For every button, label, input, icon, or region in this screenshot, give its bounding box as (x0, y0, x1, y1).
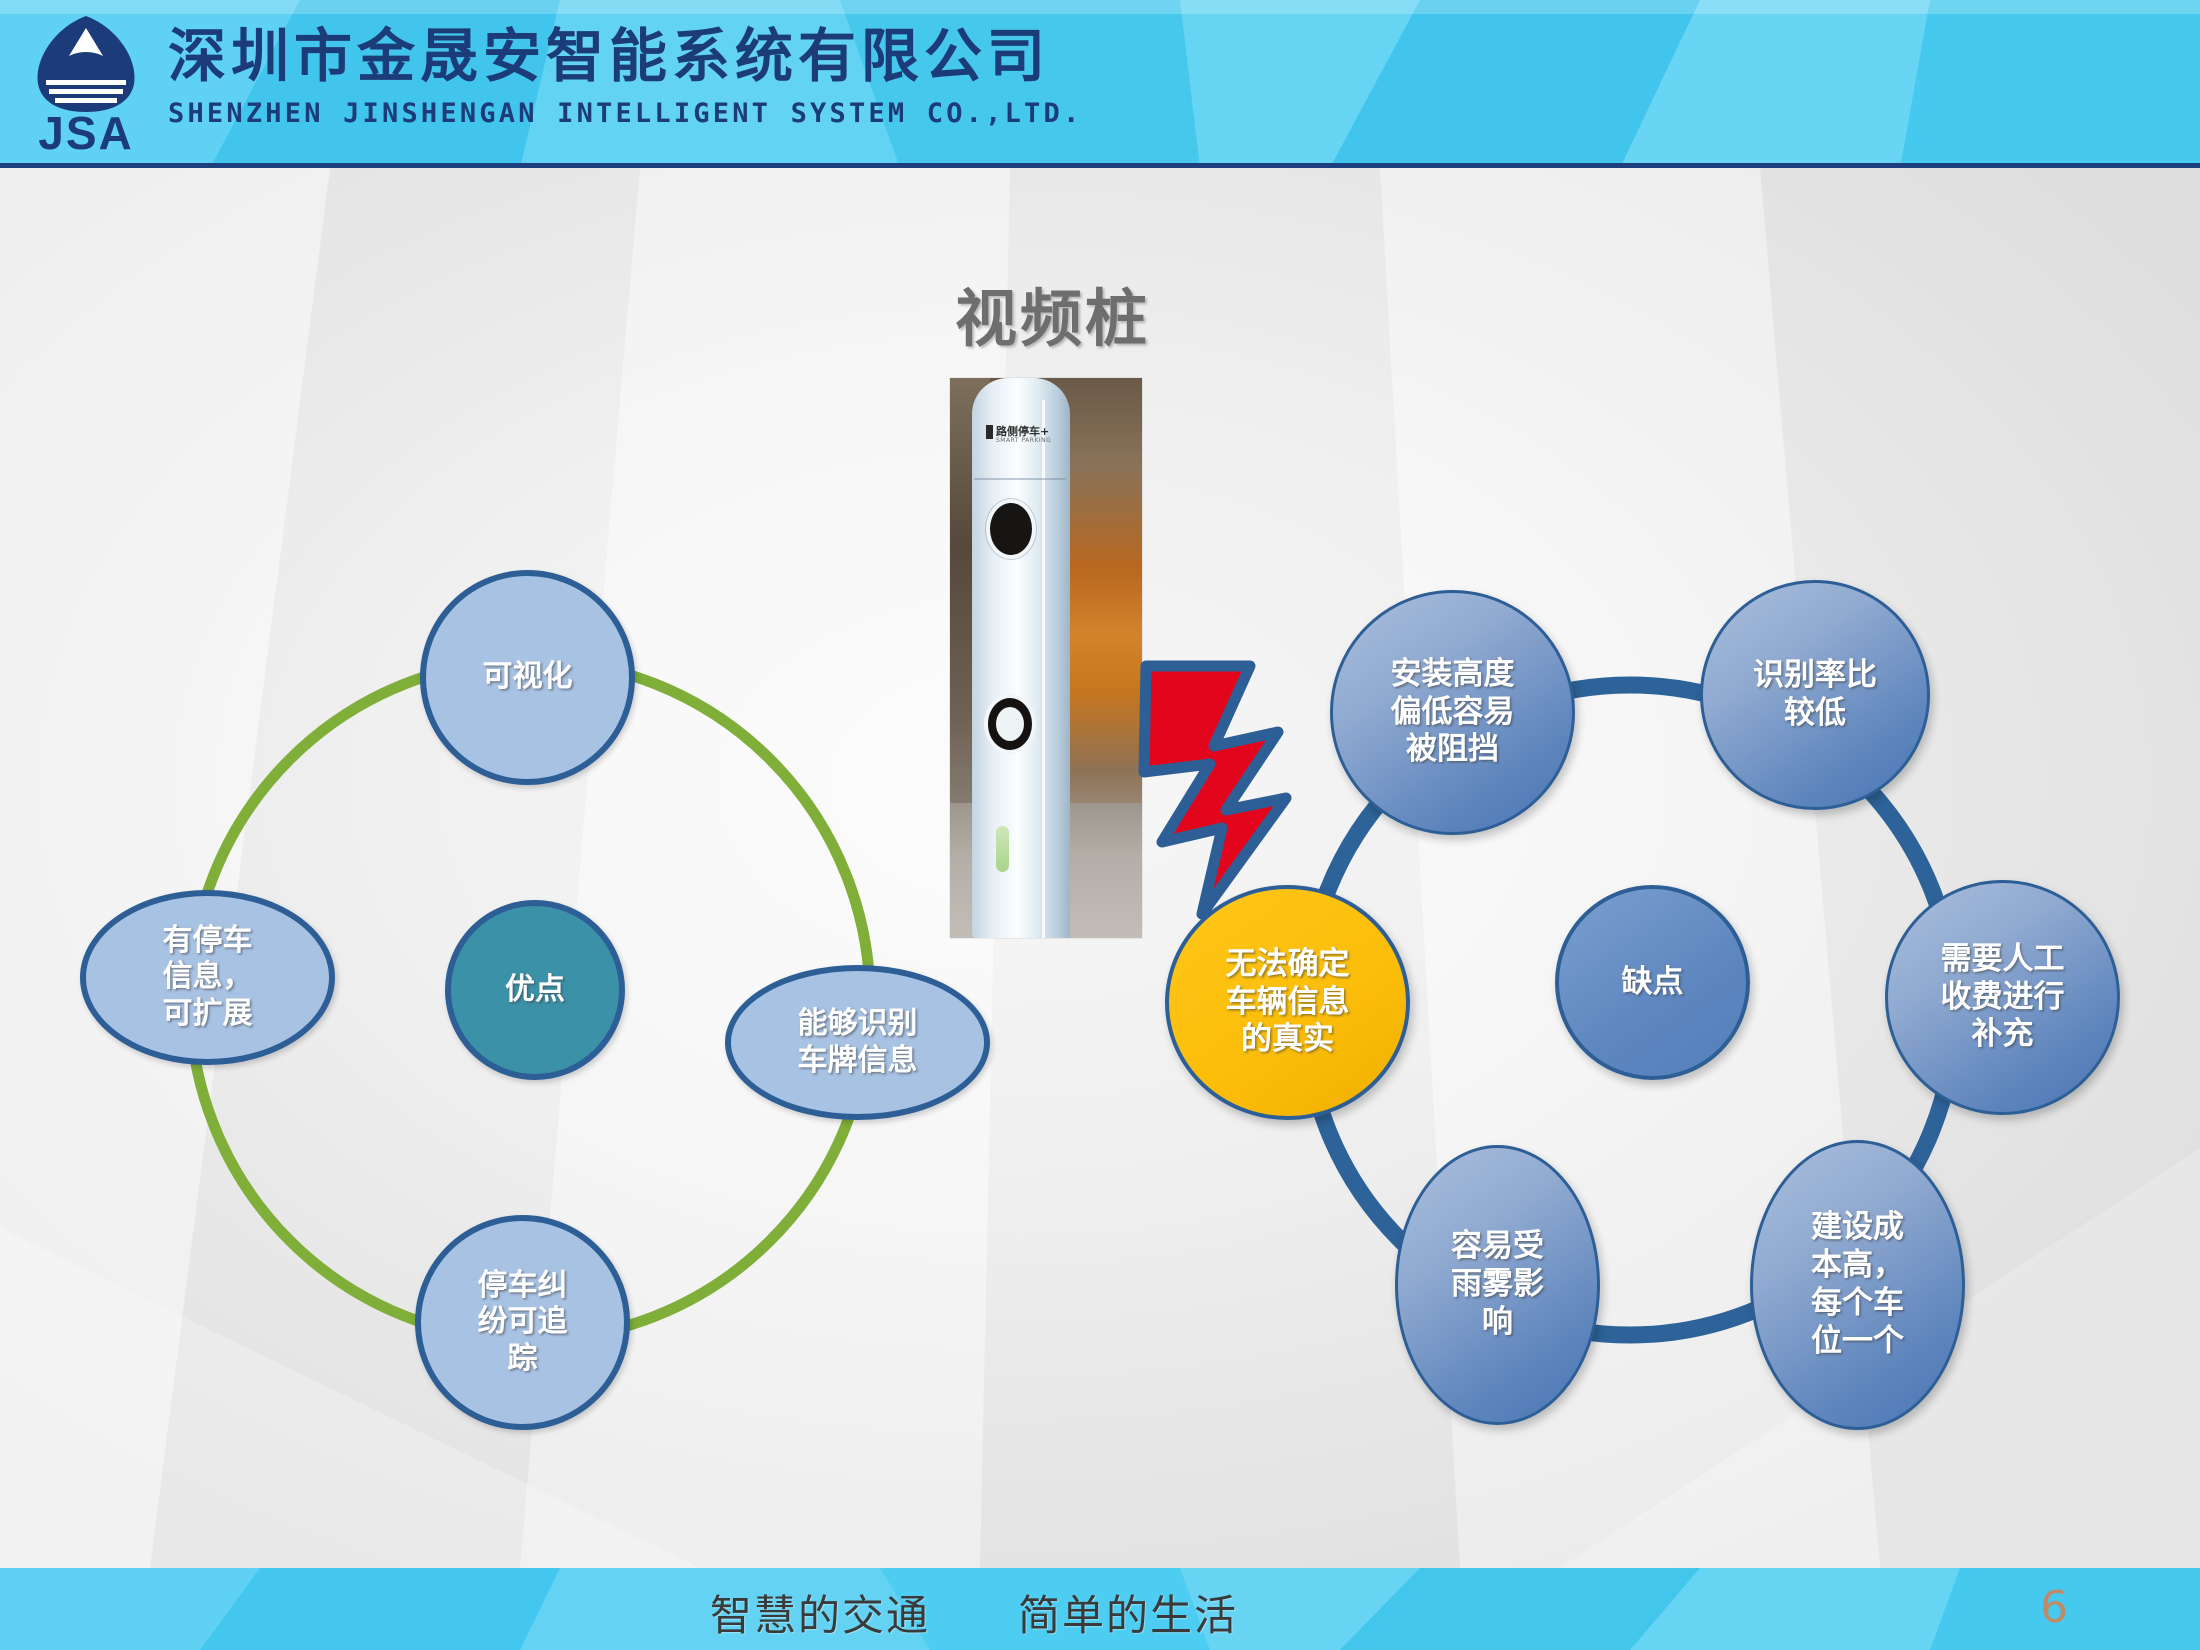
disadvantage-node-rain-fog-affected[interactable]: 容易受 雨雾影 响 (1395, 1145, 1600, 1425)
disadvantage-label-rain-fog-affected: 容易受 雨雾影 响 (1451, 1228, 1544, 1341)
slide-canvas: JSA 深圳市金晟安智能系统有限公司 SHENZHEN JINSHENGAN I… (0, 0, 2200, 1650)
company-name-cn: 深圳市金晟安智能系统有限公司 (168, 18, 1082, 94)
page-header: JSA 深圳市金晟安智能系统有限公司 SHENZHEN JINSHENGAN I… (0, 0, 2200, 168)
disadvantages-core-node[interactable]: 缺点 (1555, 885, 1750, 1080)
advantage-label-visualization: 可视化 (483, 659, 573, 696)
disadvantage-label-low-install-height: 安装高度 偏低容易 被阻挡 (1391, 656, 1515, 769)
disadvantage-node-manual-fee-supplement[interactable]: 需要人工 收费进行 补充 (1885, 880, 2120, 1115)
advantages-core-node[interactable]: 优点 (445, 900, 625, 1080)
header-underline (0, 163, 2200, 168)
advantage-node-dispute-traceable[interactable]: 停车纠 纷可追 踪 (415, 1215, 630, 1430)
disadvantage-node-high-build-cost[interactable]: 建设成 本高， 每个车 位一个 (1750, 1140, 1965, 1430)
advantage-node-visualization[interactable]: 可视化 (420, 570, 635, 785)
disadvantage-node-low-recognition-rate[interactable]: 识别率比 较低 (1700, 580, 1930, 810)
page-footer: 智慧的交通 简单的生活 6 (0, 1568, 2200, 1650)
company-name-en: SHENZHEN JINSHENGAN INTELLIGENT SYSTEM C… (168, 96, 1082, 132)
advantages-core-label: 优点 (505, 972, 565, 1009)
post-seam (974, 478, 1066, 480)
brand-bar-icon (986, 425, 993, 439)
post-highlight-edge (1042, 400, 1045, 938)
disadvantages-core-label: 缺点 (1622, 964, 1684, 1002)
page-number: 6 (2040, 1582, 2068, 1633)
disadvantage-label-high-build-cost: 建设成 本高， 每个车 位一个 (1811, 1209, 1904, 1360)
advantage-label-parking-info: 有停车 信息， 可扩展 (163, 923, 253, 1033)
advantage-label-plate-recognition: 能够识别 车牌信息 (798, 1006, 918, 1079)
advantage-node-plate-recognition[interactable]: 能够识别 车牌信息 (725, 965, 990, 1120)
upper-camera-lens-icon (990, 503, 1032, 555)
advantage-label-dispute-traceable: 停车纠 纷可追 踪 (478, 1268, 568, 1378)
brand-subtext: SMART PARKING (996, 437, 1051, 444)
post-body (972, 378, 1070, 938)
advantages-diagram: 可视化 有停车 信息， 可扩展 能够识别 车牌信息 停车纠 纷可追 踪 优点 (90, 560, 970, 1440)
disadvantage-label-vehicle-info-unverifiable: 无法确定 车辆信息 的真实 (1226, 946, 1350, 1059)
disadvantage-node-vehicle-info-unverifiable[interactable]: 无法确定 车辆信息 的真实 (1165, 885, 1410, 1120)
disadvantage-label-low-recognition-rate: 识别率比 较低 (1753, 657, 1877, 733)
page-title: 视频桩 (955, 268, 1150, 358)
disadvantages-diagram: 安装高度 偏低容易 被阻挡 识别率比 较低 需要人工 收费进行 补充 建设成 本… (1180, 560, 2080, 1460)
status-led-indicator (996, 826, 1009, 872)
logo-text: JSA (22, 110, 150, 156)
mountain-wave-logo-icon (22, 14, 150, 114)
advantage-node-parking-info[interactable]: 有停车 信息， 可扩展 (80, 890, 335, 1065)
company-logo: JSA (22, 14, 150, 154)
footer-slogan: 智慧的交通 简单的生活 (710, 1582, 1238, 1643)
company-name-block: 深圳市金晟安智能系统有限公司 SHENZHEN JINSHENGAN INTEL… (168, 18, 1082, 132)
post-brand-label: 路侧停车+ SMART PARKING (986, 423, 1048, 449)
lower-camera-lens-icon (988, 698, 1032, 750)
disadvantage-node-low-install-height[interactable]: 安装高度 偏低容易 被阻挡 (1330, 590, 1575, 835)
disadvantage-label-manual-fee-supplement: 需要人工 收费进行 补充 (1941, 941, 2065, 1054)
